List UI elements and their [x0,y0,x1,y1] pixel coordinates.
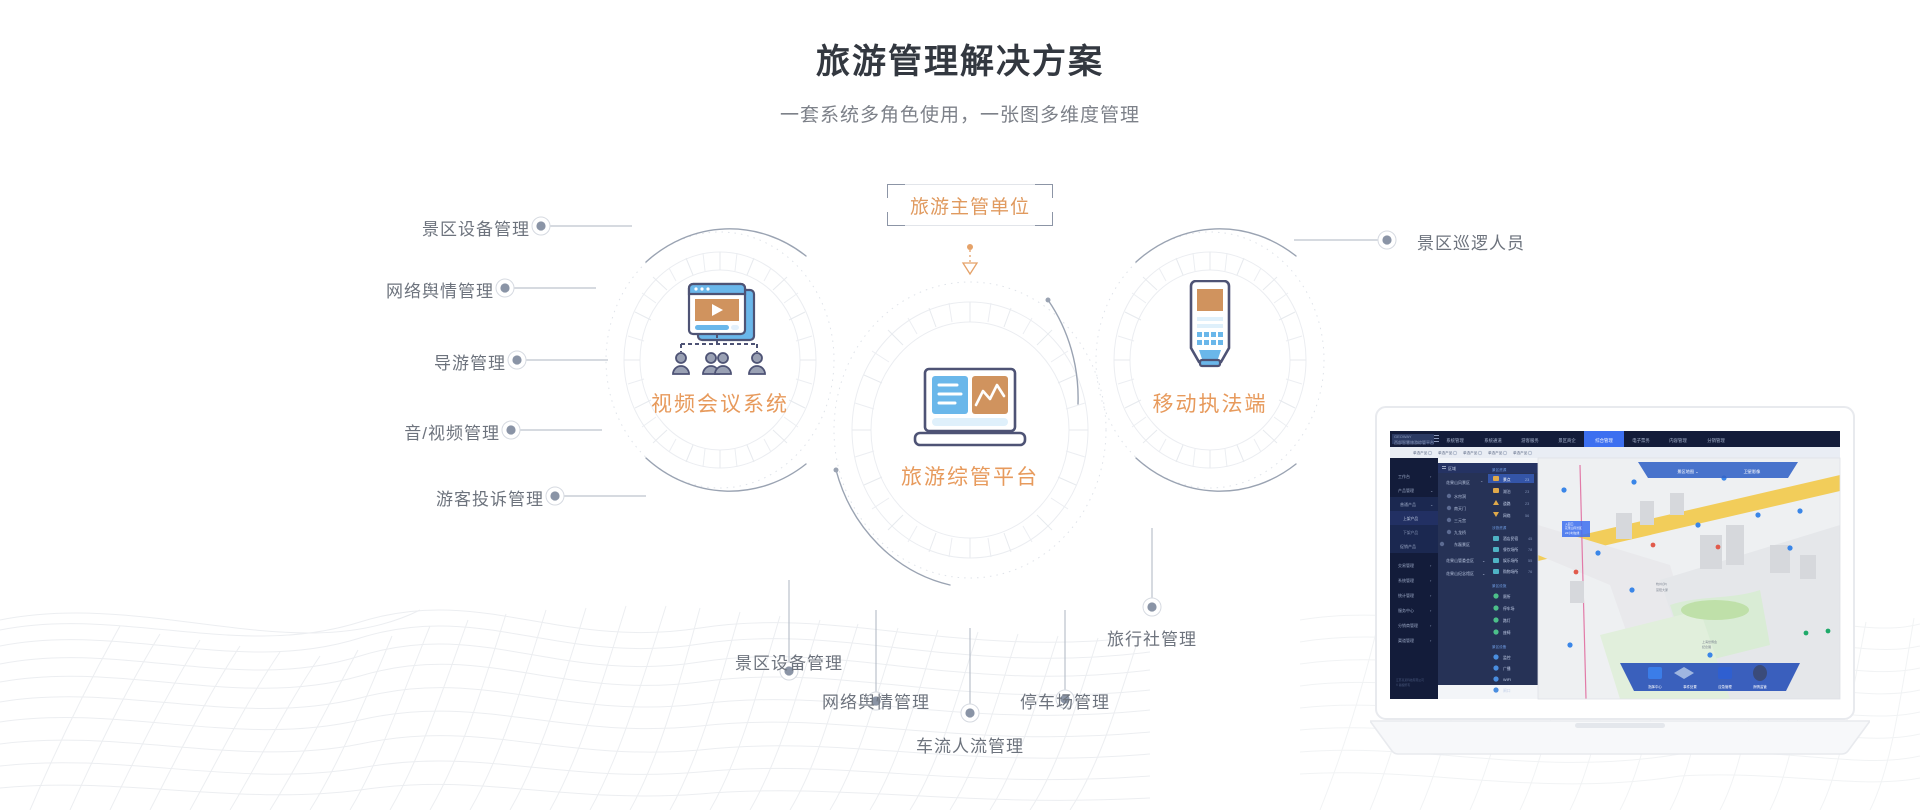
svg-text:23: 23 [1525,478,1529,482]
svg-text:停车场: 停车场 [1503,606,1515,611]
label-bottom-2[interactable]: 网络舆情管理 [822,688,930,713]
svg-text:⌄: ⌄ [1430,488,1433,493]
svg-text:景区设备: 景区设备 [1492,644,1507,649]
label-bottom-5[interactable]: 旅行社管理 [1107,625,1197,650]
svg-text:湖泊: 湖泊 [1503,489,1511,494]
svg-text:电子票务: 电子票务 [1632,437,1650,444]
svg-text:游客服务: 游客服务 [1521,437,1539,444]
svg-text:九龙桥: 九龙桥 [1454,529,1466,535]
svg-text:系统管理: 系统管理 [1446,437,1464,444]
node-tourism-platform[interactable]: 旅游综管平台 [855,365,1085,491]
label-left-4[interactable]: 音/视频管理 [280,419,500,444]
handheld-device-icon [1100,280,1320,388]
svg-text:单选产品: 单选产品 [1463,450,1478,455]
badge-tourism-authority[interactable]: 旅游主管单位 [887,184,1053,226]
label-bottom-3[interactable]: 车流人流管理 [916,732,1024,757]
svg-text:⌃: ⌃ [1480,480,1483,485]
svg-text:闸口: 闸口 [1503,688,1511,693]
svg-text:56: 56 [1525,514,1529,518]
svg-text:© 版权所有: © 版权所有 [1396,683,1410,687]
svg-text:单选产品: 单选产品 [1438,450,1453,455]
svg-text:花果山风景区: 花果山风景区 [1565,526,1582,530]
node-label-mobile-enforcement: 移动执法端 [1100,388,1320,418]
svg-text:东磊景区: 东磊景区 [1454,541,1470,547]
svg-text:区域: 区域 [1448,465,1456,471]
node-mobile-enforcement[interactable]: 移动执法端 [1100,280,1320,418]
svg-text:产品管理: 产品管理 [1398,487,1414,493]
svg-text:厕所: 厕所 [1503,594,1511,599]
svg-text:监控: 监控 [1503,655,1511,660]
svg-text:⌄: ⌄ [1482,558,1485,563]
laptop-dashboard-icon [855,365,1085,461]
svg-text:服务中心: 服务中心 [1398,607,1414,613]
svg-text:景区资源: 景区资源 [1492,467,1507,472]
svg-text:景区地图 ⌄: 景区地图 ⌄ [1677,468,1698,475]
label-left-5[interactable]: 游客投诉管理 [324,485,544,510]
svg-text:舆情监管: 舆情监管 [1753,684,1767,689]
svg-text:工作台: 工作台 [1398,473,1410,479]
svg-text:纪念展: 纪念展 [1702,644,1711,649]
svg-text:单选产品: 单选产品 [1513,450,1528,455]
svg-text:酒店民宿: 酒店民宿 [1503,536,1518,541]
video-conference-icon [610,280,830,388]
svg-text:广播: 广播 [1503,666,1511,671]
svg-text:网络: 网络 [1503,513,1511,518]
svg-text:景区设施: 景区设施 [1492,583,1507,588]
svg-text:统计管理: 统计管理 [1398,592,1414,598]
svg-text:景区商企: 景区商企 [1558,437,1576,444]
svg-text:单选产品: 单选产品 [1413,450,1428,455]
svg-text:单选产品: 单选产品 [1488,450,1503,455]
svg-text:促销产品: 促销产品 [1400,543,1416,549]
svg-text:花果山风景区: 花果山风景区 [1446,479,1470,485]
svg-text:应急管理: 应急管理 [1718,684,1732,689]
svg-text:23: 23 [1525,502,1529,506]
node-label-tourism-platform: 旅游综管平台 [855,461,1085,491]
svg-text:分销商管理: 分销商管理 [1398,622,1418,628]
solution-diagram-page: 旅游管理解决方案 一套系统多角色使用，一张图多维度管理 [0,0,1920,810]
svg-text:系统管理: 系统管理 [1398,577,1414,583]
label-bottom-4[interactable]: 停车场管理 [1020,688,1110,713]
svg-text:76: 76 [1528,570,1532,574]
svg-text:45: 45 [1528,537,1532,541]
node-label-video-conference: 视频会议系统 [610,388,830,418]
svg-text:购物场所: 购物场所 [1503,569,1518,574]
svg-text:上海世博会: 上海世博会 [1702,639,1717,644]
svg-text:三元宫: 三元宫 [1454,517,1466,523]
svg-text:杭州(沪): 杭州(沪) [1656,581,1667,586]
svg-text:座椅: 座椅 [1503,630,1511,635]
svg-text:渠道管理: 渠道管理 [1398,637,1414,643]
svg-text:卫星影像: 卫星影像 [1744,468,1762,475]
laptop-mockup[interactable]: GEOWAY 西部智慧旅游综管平台 系统管理 系统通道 游客服务 景区商企 综合… [1370,405,1870,765]
svg-text:涉旅资源: 涉旅资源 [1492,525,1507,530]
svg-text:23: 23 [1525,490,1529,494]
svg-text:交易管理: 交易管理 [1398,562,1414,568]
svg-text:综合管理: 综合管理 [1595,437,1613,444]
svg-text:下架产品: 下架产品 [1403,530,1418,535]
svg-text:景点: 景点 [1503,477,1511,482]
svg-text:南天门: 南天门 [1454,505,1466,511]
svg-text:系统通道: 系统通道 [1484,437,1502,444]
svg-text:普通产品: 普通产品 [1400,501,1416,507]
svg-text:花果山管委会区: 花果山管委会区 [1446,557,1474,563]
node-video-conference[interactable]: 视频会议系统 [610,280,830,418]
svg-text:上架产品: 上架产品 [1403,516,1418,521]
svg-text:江苏某某科技有限公司: 江苏某某科技有限公司 [1396,678,1424,682]
svg-text:事件处置: 事件处置 [1683,684,1697,689]
svg-text:水帘洞: 水帘洞 [1454,493,1466,499]
svg-text:道路: 道路 [1503,501,1511,506]
svg-text:内容管理: 内容管理 [1669,437,1687,444]
svg-text:花果山纪念馆区: 花果山纪念馆区 [1446,570,1474,576]
svg-text:分销管理: 分销管理 [1707,437,1725,444]
svg-text:西部智慧旅游综管平台: 西部智慧旅游综管平台 [1394,439,1434,445]
label-right-1[interactable]: 景区巡逻人员 [1417,229,1525,254]
label-left-3[interactable]: 导游管理 [286,349,506,374]
svg-text:指挥中心: 指挥中心 [1648,684,1662,689]
label-left-2[interactable]: 网络舆情管理 [274,277,494,302]
svg-text:路灯: 路灯 [1503,618,1511,623]
label-left-1[interactable]: 景区设备管理 [310,215,530,240]
badge-label: 旅游主管单位 [910,192,1030,219]
svg-text:娱乐场所: 娱乐场所 [1503,558,1518,563]
svg-text:55: 55 [1528,559,1532,563]
svg-text:78: 78 [1528,548,1532,552]
svg-text:⌄: ⌄ [1430,502,1433,507]
svg-text:餐饮场所: 餐饮场所 [1503,547,1518,552]
svg-text:WIFI: WIFI [1503,678,1511,682]
svg-text:24小时在线: 24小时在线 [1565,531,1580,535]
label-bottom-1[interactable]: 景区设备管理 [735,649,843,674]
svg-text:⌄: ⌄ [1482,571,1485,576]
svg-text:GEOWAY: GEOWAY [1394,434,1412,439]
svg-text:富阳大厦: 富阳大厦 [1656,587,1668,592]
